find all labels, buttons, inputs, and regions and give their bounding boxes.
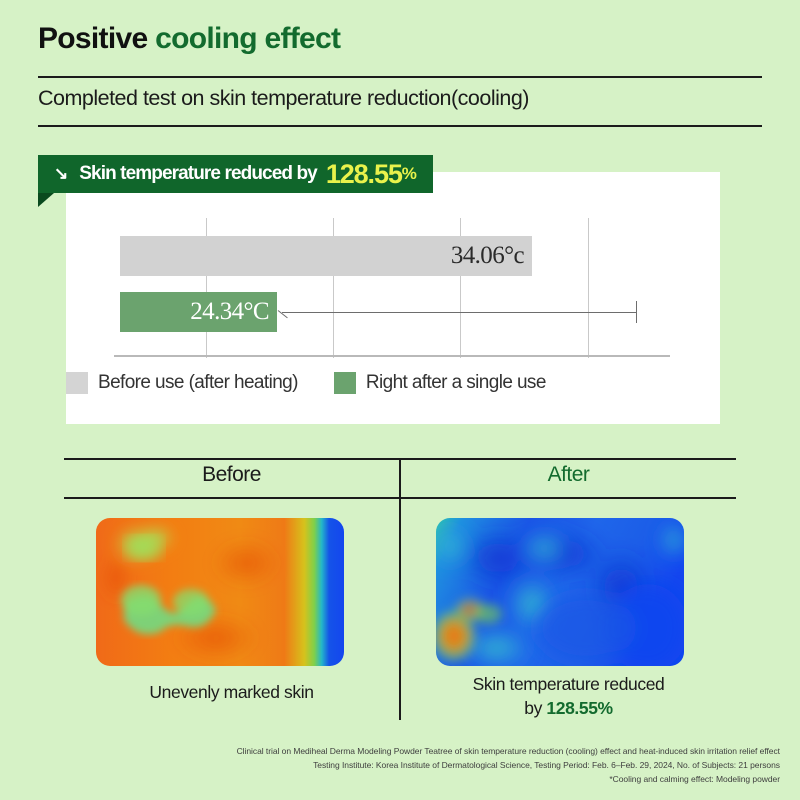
caption-after-line1: Skin temperature reduced <box>401 673 736 697</box>
thermal-image-after <box>436 518 684 666</box>
banner-label: Skin temperature reduced by <box>79 163 317 185</box>
divider-top <box>38 76 762 78</box>
highlight-banner: ↘ Skin temperature reduced by 128.55 % <box>38 155 433 193</box>
legend-item-after: Right after a single use <box>334 372 546 394</box>
banner-percent-sign: % <box>402 164 417 184</box>
arrow-down-right-icon: ↘ <box>54 165 68 182</box>
chart-legend: Before use (after heating) Right after a… <box>66 372 546 394</box>
page-title-green: cooling effect <box>155 22 340 55</box>
footnote-line-2: Testing Institute: Korea Institute of De… <box>40 758 780 772</box>
legend-label-before: Before use (after heating) <box>98 372 298 394</box>
banner-tail <box>38 193 54 207</box>
legend-item-before: Before use (after heating) <box>66 372 298 394</box>
reduction-annotation-line <box>282 312 637 313</box>
bar-chart: 34.06°c 24.34°C <box>66 200 720 370</box>
page-title-dark: Positive <box>38 22 147 55</box>
chart-baseline <box>114 355 670 357</box>
bar-before-use: 34.06°c <box>120 236 532 276</box>
bar-value-label-after: 24.34°C <box>190 298 277 326</box>
bar-after-use: 24.34°C <box>120 292 277 332</box>
page-subtitle: Completed test on skin temperature reduc… <box>38 86 529 111</box>
comparison-header-after: After <box>401 463 736 487</box>
thermal-before-graphic <box>96 518 344 666</box>
footnote: Clinical trial on Mediheal Derma Modelin… <box>40 744 780 786</box>
thermal-image-before <box>96 518 344 666</box>
bar-value-label-before: 34.06°c <box>451 242 532 270</box>
footnote-line-1: Clinical trial on Mediheal Derma Modelin… <box>40 744 780 758</box>
footnote-line-3: *Cooling and calming effect: Modeling po… <box>40 772 780 786</box>
legend-label-after: Right after a single use <box>366 372 546 394</box>
caption-after-prefix: by <box>524 698 546 718</box>
comparison-header-before: Before <box>64 463 399 487</box>
reduction-annotation-endcap <box>636 301 637 323</box>
legend-swatch-green-icon <box>334 372 356 394</box>
thermal-after-graphic <box>436 518 684 666</box>
chart-gridline <box>588 218 589 358</box>
caption-after-line2: by 128.55% <box>401 697 736 721</box>
banner-percent-value: 128.55 <box>326 159 402 190</box>
divider-subtitle <box>38 125 762 127</box>
page-title: Positive cooling effect <box>38 22 340 56</box>
caption-after-percent: 128.55% <box>546 698 612 718</box>
legend-swatch-gray-icon <box>66 372 88 394</box>
caption-after: Skin temperature reduced by 128.55% <box>401 673 736 720</box>
caption-before: Unevenly marked skin <box>64 681 399 705</box>
